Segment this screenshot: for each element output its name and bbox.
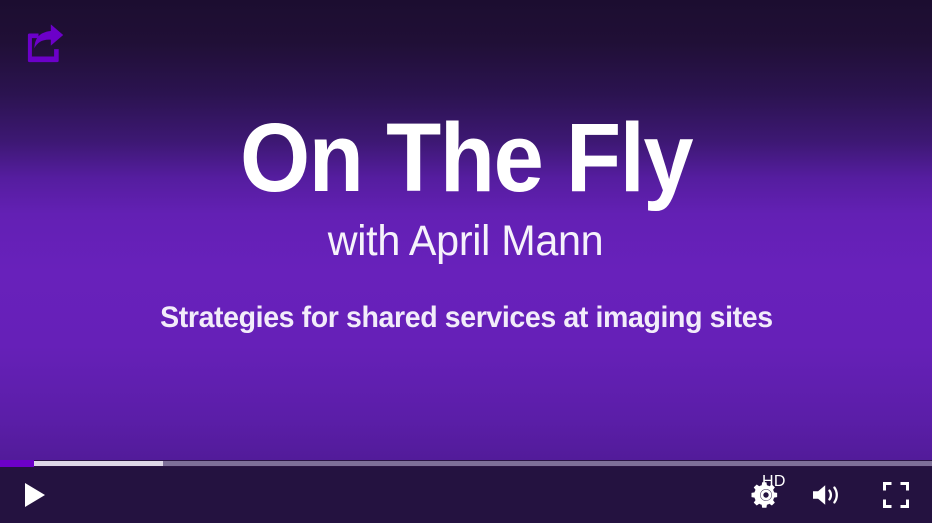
fullscreen-button[interactable] [868,467,924,523]
volume-button[interactable] [798,467,856,523]
play-button[interactable] [8,467,62,523]
settings-button[interactable] [738,467,794,523]
gear-icon [751,480,781,510]
slide-title: On The Fly [240,109,692,206]
control-bar [0,467,932,523]
share-icon [24,22,66,64]
slide-subject: Strategies for shared services at imagin… [160,303,773,333]
progress-bar[interactable] [0,460,932,467]
progress-played [0,460,34,467]
slide-text-block: On The Fly with April Mann Strategies fo… [0,0,932,460]
fullscreen-icon [882,481,910,509]
play-icon [23,482,47,508]
video-player[interactable]: On The Fly with April Mann Strategies fo… [0,0,932,523]
share-button[interactable] [22,20,68,66]
slide-presenter: with April Mann [328,220,604,263]
volume-high-icon [810,481,844,509]
